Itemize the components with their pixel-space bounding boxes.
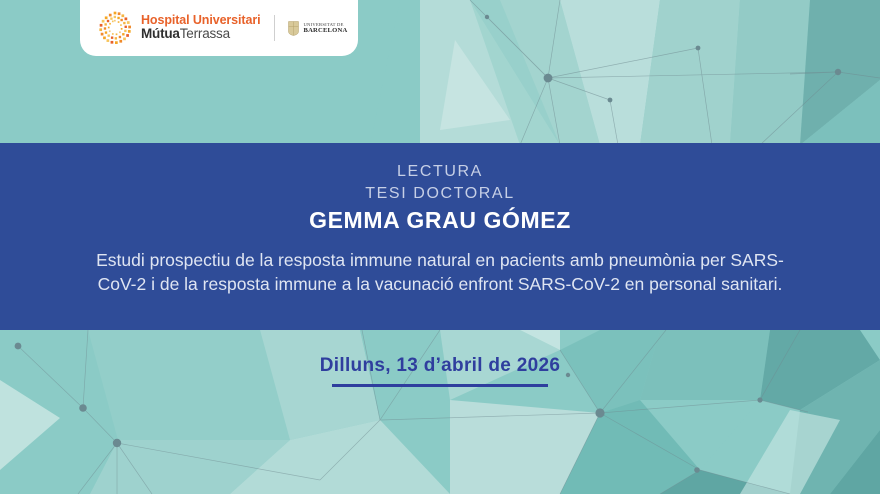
university-of-barcelona-logo: UNIVERSITAT DE BARCELONA <box>288 21 347 36</box>
hospital-logo-wordmark: Hospital Universitari MútuaTerrassa <box>141 14 260 41</box>
date-block: Dilluns, 13 d’abril de 2026 <box>0 355 880 387</box>
ub-shield-icon <box>288 21 299 36</box>
hospital-logo-line2: MútuaTerrassa <box>141 27 260 41</box>
logo-card: Hospital Universitari MútuaTerrassa UNIV… <box>80 0 358 56</box>
mutua-terrassa-sunburst-icon <box>98 11 132 45</box>
ub-logo-line2: BARCELONA <box>303 27 347 34</box>
candidate-name: GEMMA GRAU GÓMEZ <box>0 207 880 234</box>
logo-divider <box>274 15 275 41</box>
hospital-logo-line2-bold: Mútua <box>141 26 180 41</box>
event-date: Dilluns, 13 d’abril de 2026 <box>320 355 560 377</box>
hospital-logo-line2-regular: Terrassa <box>180 26 230 41</box>
date-underline <box>332 384 548 387</box>
thesis-defense-poster: Hospital Universitari MútuaTerrassa UNIV… <box>0 0 880 494</box>
banner-kicker-line1: LECTURA <box>0 161 880 183</box>
announcement-banner: LECTURA TESI DOCTORAL GEMMA GRAU GÓMEZ E… <box>0 143 880 330</box>
banner-kicker-line2: TESI DOCTORAL <box>0 183 880 205</box>
ub-wordmark: UNIVERSITAT DE BARCELONA <box>303 22 347 34</box>
thesis-title: Estudi prospectiu de la resposta immune … <box>85 248 795 296</box>
